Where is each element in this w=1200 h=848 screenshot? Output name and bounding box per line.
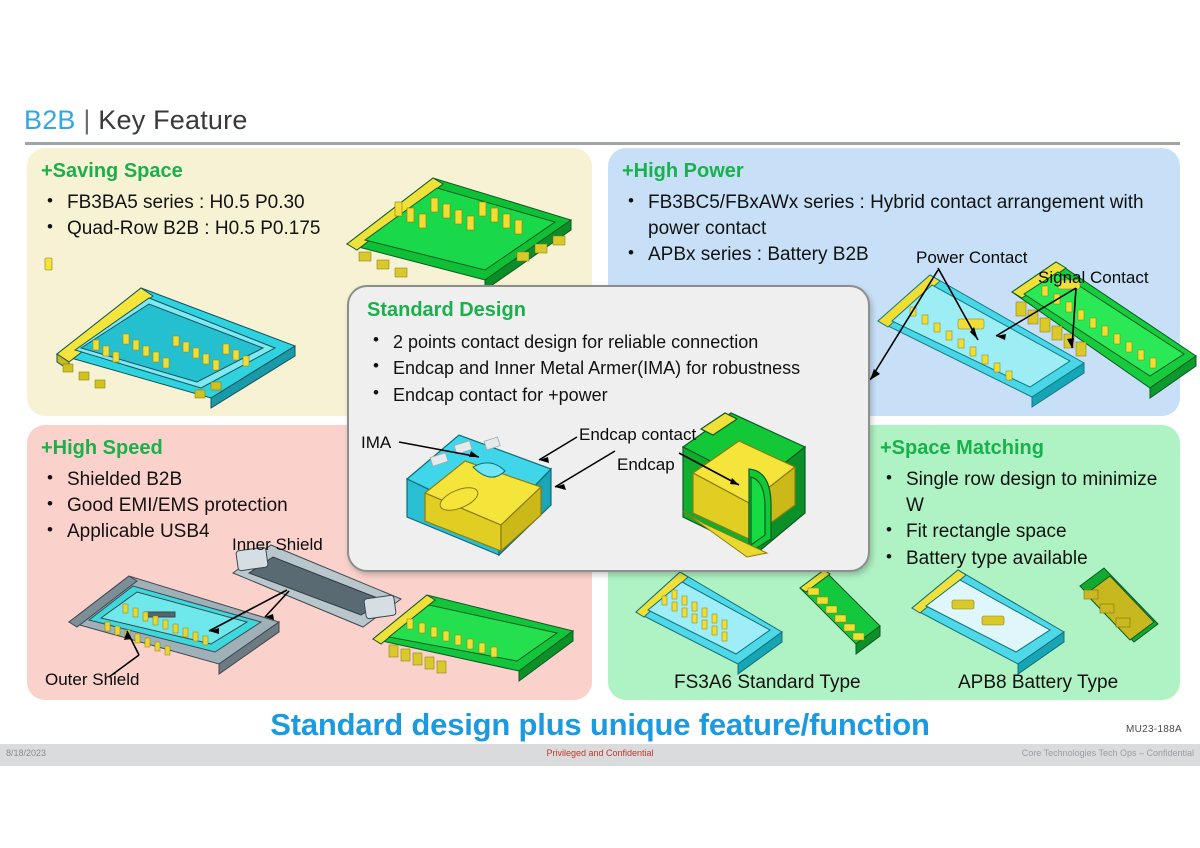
list-item: Fit rectangle space [880, 519, 1170, 545]
title-divider [25, 142, 1180, 145]
footer-org: Core Technologies Tech Ops – Confidentia… [1022, 748, 1194, 758]
card-standard-design: Standard Design 2 points contact design … [347, 285, 870, 572]
label-endcap-contact: Endcap contact [579, 425, 696, 445]
panel-space-bullets: Single row design to minimize W Fit rect… [880, 467, 1170, 572]
label-power-contact: Power Contact [916, 248, 1028, 268]
connector-image-fs3a6-pair [628, 560, 888, 670]
list-item: Single row design to minimize W [880, 467, 1170, 519]
document-code: MU23-188A [1126, 724, 1182, 735]
label-endcap: Endcap [617, 455, 675, 475]
connector-image-fb3ba5-header [325, 156, 587, 286]
label-inner-shield: Inner Shield [232, 535, 323, 555]
title-brand: B2B [24, 105, 76, 135]
caption-apb8: APB8 Battery Type [958, 672, 1118, 694]
slide-headline: Standard design plus unique feature/func… [0, 707, 1200, 743]
label-ima: IMA [361, 433, 391, 453]
label-signal-contact: Signal Contact [1038, 268, 1149, 288]
title-text: Key Feature [98, 105, 247, 135]
panel-space-heading: +Space Matching [880, 437, 1044, 460]
connector-image-fb3ba5-receptacle [45, 258, 315, 403]
footer-bar: 8/18/2023 Privileged and Confidential Co… [0, 744, 1200, 766]
footer-confidential-notice: Privileged and Confidential [0, 748, 1200, 758]
caption-fs3a6: FS3A6 Standard Type [674, 672, 861, 694]
slide-root: B2B | Key Feature +Saving Space FB3BA5 s… [0, 0, 1200, 848]
title-separator: | [83, 105, 90, 135]
connector-image-apb8-pair [904, 560, 1164, 670]
label-outer-shield: Outer Shield [45, 670, 140, 690]
panel-saving-heading: +Saving Space [41, 160, 183, 183]
page-title: B2B | Key Feature [24, 105, 248, 136]
